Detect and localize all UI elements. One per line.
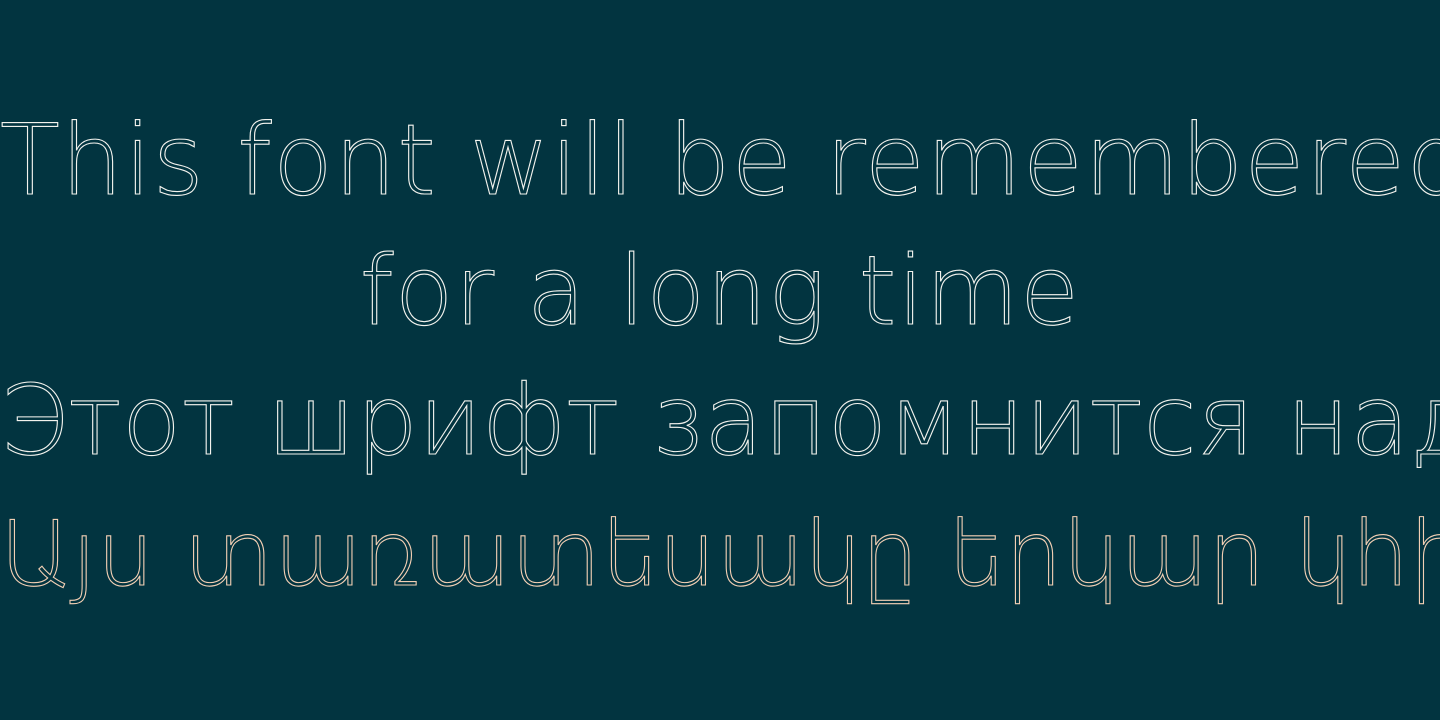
specimen-line-latin-2: for a long time xyxy=(0,226,1440,356)
specimen-line-cyrillic: Этот шрифт запомнится надолго xyxy=(0,356,1440,486)
specimen-line-latin-1: This font will be remembered xyxy=(0,96,1440,226)
specimen-line-armenian: Այս տառատեսակը երկար կհիշեք xyxy=(0,490,1440,620)
font-specimen-canvas: This font will be remembered for a long … xyxy=(0,0,1440,720)
